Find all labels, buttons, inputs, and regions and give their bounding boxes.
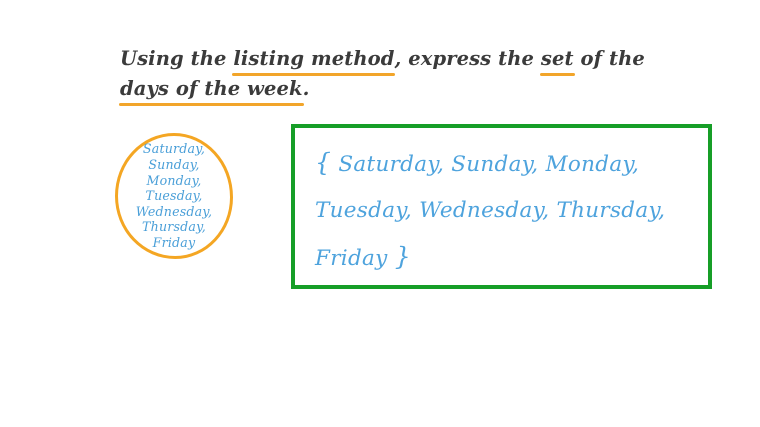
- answer-line-1: { Saturday, Sunday, Monday,: [315, 140, 698, 188]
- list-item: Saturday,: [143, 141, 205, 157]
- question-line-1: Using the listing method, express the se…: [120, 44, 640, 74]
- answer-line-3: Friday }: [315, 234, 698, 282]
- question-segment-1: Using the: [120, 47, 233, 70]
- circle-day-list: Saturday, Sunday, Monday, Tuesday, Wedne…: [136, 141, 212, 250]
- list-item: Thursday,: [142, 219, 206, 235]
- question-segment-2: , express the: [394, 47, 540, 70]
- answer-box: { Saturday, Sunday, Monday, Tuesday, Wed…: [291, 124, 712, 289]
- question-segment-3: of the: [574, 47, 645, 70]
- question-underlined-set: set: [541, 44, 574, 74]
- list-item: Friday: [153, 235, 196, 251]
- open-brace: {: [315, 148, 331, 177]
- list-item: Monday,: [146, 173, 201, 189]
- question-line-2: days of the week.: [120, 74, 640, 104]
- question-underlined-listing-method: listing method: [233, 44, 394, 74]
- circle-annotation: Saturday, Sunday, Monday, Tuesday, Wedne…: [115, 133, 233, 259]
- answer-line-2: Tuesday, Wednesday, Thursday,: [315, 188, 698, 234]
- answer-days-line-1: Saturday, Sunday, Monday,: [338, 152, 639, 177]
- question-text: Using the listing method, express the se…: [120, 44, 640, 104]
- list-item: Tuesday,: [145, 188, 202, 204]
- list-item: Sunday,: [148, 157, 199, 173]
- answer-set-notation: { Saturday, Sunday, Monday, Tuesday, Wed…: [315, 140, 698, 282]
- answer-days-line-2: Tuesday, Wednesday, Thursday,: [315, 198, 665, 223]
- worksheet-page: Using the listing method, express the se…: [0, 0, 760, 427]
- question-underlined-days-of-the-week: days of the week: [120, 74, 303, 104]
- answer-days-line-3: Friday: [315, 246, 388, 271]
- question-segment-4: .: [303, 77, 310, 100]
- close-brace: }: [395, 242, 411, 271]
- list-item: Wednesday,: [136, 204, 212, 220]
